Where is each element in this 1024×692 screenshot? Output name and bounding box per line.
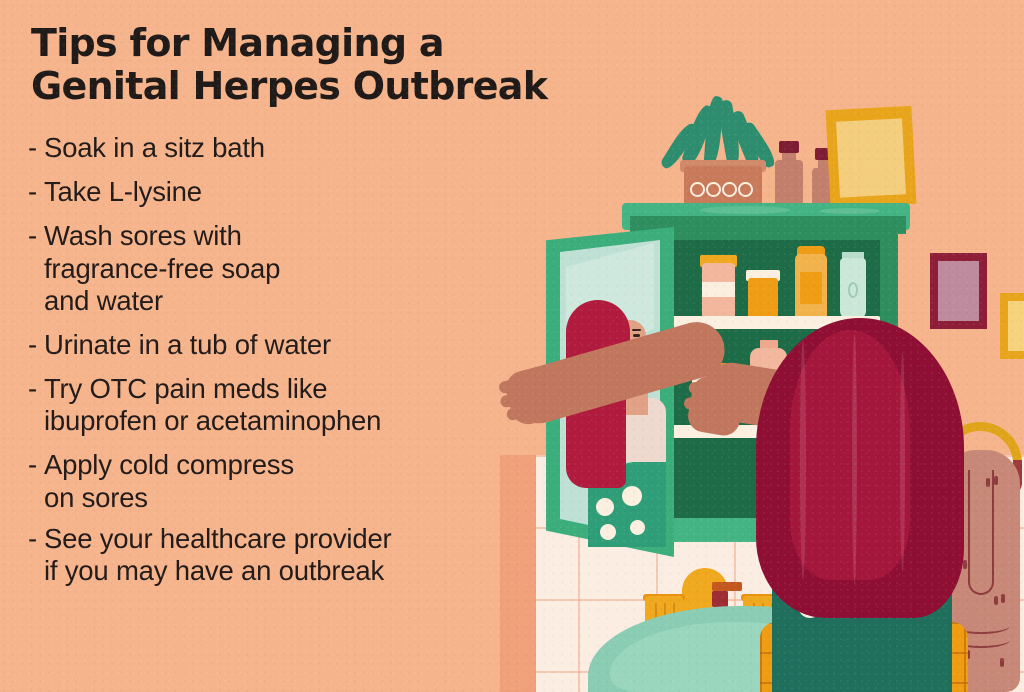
finger	[688, 381, 708, 396]
towel-dash	[963, 560, 967, 569]
medicine-jar-amber	[748, 278, 778, 320]
tip-bullet-dash: -	[28, 373, 37, 405]
reflection-flower	[622, 486, 642, 506]
towel-dash	[994, 596, 998, 605]
tip-text: Try OTC pain meds like ibuprofen or acet…	[44, 373, 381, 437]
tip-item: -Urinate in a tub of water	[28, 329, 540, 361]
reflection-eyebrow	[632, 329, 641, 331]
towel-dash	[986, 478, 990, 487]
tip-text: Soak in a sitz bath	[44, 132, 265, 164]
framed-picture-maroon-mat	[938, 261, 979, 321]
pot-pattern-circle	[722, 182, 737, 197]
soap-dispenser-pump	[712, 591, 728, 607]
bottle-label	[800, 272, 822, 304]
tip-bullet-dash: -	[28, 329, 37, 361]
reflection-flower	[596, 498, 614, 516]
pot-pattern-circle	[690, 182, 705, 197]
reflection-flower	[600, 524, 616, 540]
tip-bullet-dash: -	[28, 220, 37, 252]
tip-item: -Wash sores with fragrance-free soap and…	[28, 220, 540, 317]
reflection-flower	[630, 520, 645, 535]
framed-picture-yellow-mat	[1008, 301, 1024, 351]
tip-text: See your healthcare provider if you may …	[44, 523, 392, 587]
text-panel: Tips for Managing a Genital Herpes Outbr…	[0, 0, 545, 692]
towel-seam	[968, 470, 994, 595]
towel-dash	[1000, 658, 1004, 667]
tips-list: -Soak in a sitz bath-Take L-lysine-Wash …	[28, 132, 540, 596]
tip-item: -Soak in a sitz bath	[28, 132, 540, 164]
towel-dash	[994, 476, 998, 485]
tip-item: -Take L-lysine	[28, 176, 540, 208]
tip-bullet-dash: -	[28, 132, 37, 164]
infographic-canvas: Tips for Managing a Genital Herpes Outbr…	[0, 0, 1024, 692]
tip-bullet-dash: -	[28, 449, 37, 481]
pot-pattern-circle	[738, 182, 753, 197]
hair-strand	[900, 352, 905, 572]
cabinet-grain	[820, 208, 880, 214]
tip-text: Wash sores with fragrance-free soap and …	[44, 220, 280, 317]
towel-dash	[1001, 594, 1005, 603]
tip-bullet-dash: -	[28, 176, 37, 208]
counter-bottle-cap	[779, 141, 799, 153]
gold-picture-frame-mat	[836, 118, 906, 197]
counter-bottle-tall	[775, 160, 803, 206]
pot-pattern-circle	[706, 182, 721, 197]
tip-text: Apply cold compress on sores	[44, 449, 294, 513]
hair-strand	[852, 334, 857, 584]
woman-hair-highlight	[790, 330, 910, 580]
tip-item: -Try OTC pain meds like ibuprofen or ace…	[28, 373, 540, 437]
tip-item: -Apply cold compress on sores	[28, 449, 540, 513]
tube-logo	[848, 282, 858, 298]
page-title: Tips for Managing a Genital Herpes Outbr…	[31, 22, 631, 107]
tip-item: -See your healthcare provider if you may…	[28, 523, 540, 587]
soap-dispenser-nozzle	[712, 582, 742, 591]
tip-bullet-dash: -	[28, 523, 37, 555]
tip-text: Urinate in a tub of water	[44, 329, 331, 361]
bottle-label	[702, 282, 735, 297]
cabinet-grain	[700, 206, 790, 214]
tip-text: Take L-lysine	[44, 176, 202, 208]
hair-strand	[800, 340, 806, 580]
